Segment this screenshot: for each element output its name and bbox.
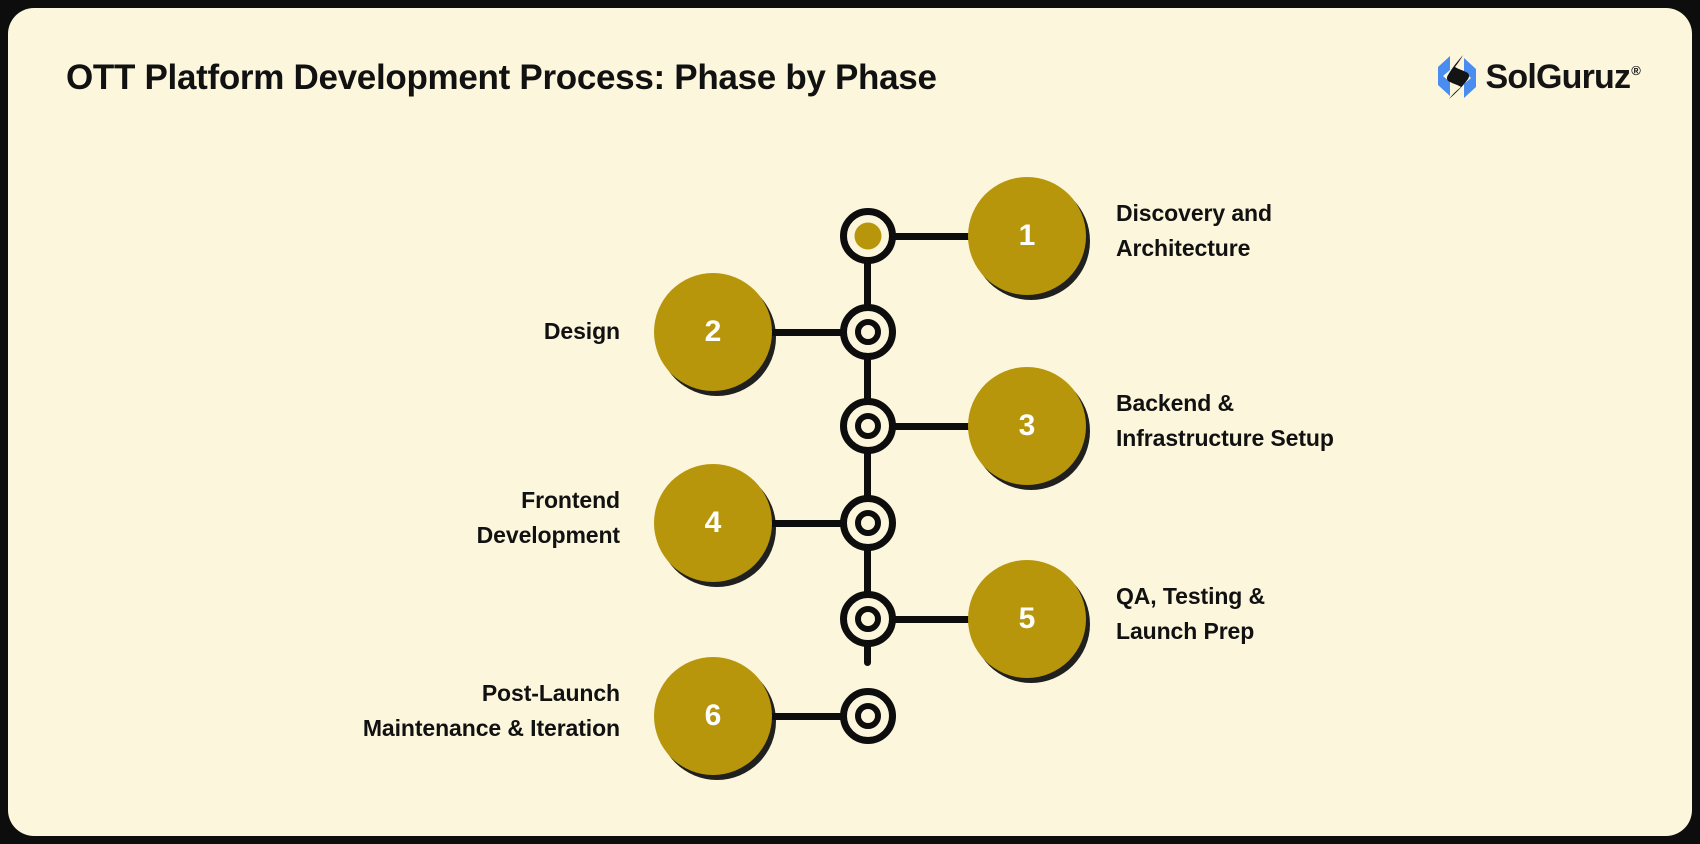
phase-caption-4: Frontend Development [188,483,620,553]
timeline-marker-dot [855,703,881,729]
caption-line: Backend & [1116,386,1546,421]
caption-line: QA, Testing & [1116,579,1516,614]
timeline-marker-1[interactable] [840,208,896,264]
connector-line [888,423,978,430]
page-title: OTT Platform Development Process: Phase … [66,58,937,98]
caption-line: Launch Prep [1116,614,1516,649]
phase-caption-6: Post-Launch Maintenance & Iteration [128,676,620,746]
phase-caption-3: Backend & Infrastructure Setup [1116,386,1546,456]
timeline-marker-5[interactable] [840,591,896,647]
caption-line: Discovery and [1116,196,1516,231]
phase-number: 2 [705,317,722,347]
phase-number: 1 [1019,221,1036,251]
caption-line: Post-Launch [128,676,620,711]
phase-bubble-2[interactable]: 2 [654,273,772,391]
phase-bubble-6[interactable]: 6 [654,657,772,775]
phase-caption-5: QA, Testing & Launch Prep [1116,579,1516,649]
phase-number: 5 [1019,604,1036,634]
process-timeline: 1 Discovery and Architecture 2 Design [8,126,1692,826]
phase-caption-1: Discovery and Architecture [1116,196,1516,266]
caption-line: Infrastructure Setup [1116,421,1546,456]
phase-caption-2: Design [208,314,620,349]
timeline-marker-2[interactable] [840,304,896,360]
caption-line: Maintenance & Iteration [128,711,620,746]
phase-number: 3 [1019,411,1036,441]
timeline-marker-dot [855,413,881,439]
caption-line: Frontend [188,483,620,518]
timeline-marker-dot [855,510,881,536]
brand-logo: SolGuruz® [1436,54,1641,100]
caption-line: Design [208,314,620,349]
caption-line: Architecture [1116,231,1516,266]
phase-number: 6 [705,701,722,731]
phase-number: 4 [705,508,722,538]
phase-bubble-3[interactable]: 3 [968,367,1086,485]
timeline-marker-dot [855,606,881,632]
phase-bubble-5[interactable]: 5 [968,560,1086,678]
infographic-card: OTT Platform Development Process: Phase … [8,8,1692,836]
phase-bubble-4[interactable]: 4 [654,464,772,582]
connector-line [888,233,978,240]
caption-line: Development [188,518,620,553]
timeline-marker-4[interactable] [840,495,896,551]
solguruz-hexagon-logo-icon [1436,54,1478,100]
registered-trademark-icon: ® [1631,63,1640,78]
connector-line [768,520,848,527]
timeline-marker-3[interactable] [840,398,896,454]
connector-line [768,713,848,720]
header: OTT Platform Development Process: Phase … [8,8,1692,128]
timeline-marker-dot [855,319,881,345]
connector-line [888,616,978,623]
timeline-marker-dot [855,223,882,250]
brand-name: SolGuruz® [1486,58,1641,97]
phase-bubble-1[interactable]: 1 [968,177,1086,295]
timeline-marker-6[interactable] [840,688,896,744]
connector-line [768,329,848,336]
